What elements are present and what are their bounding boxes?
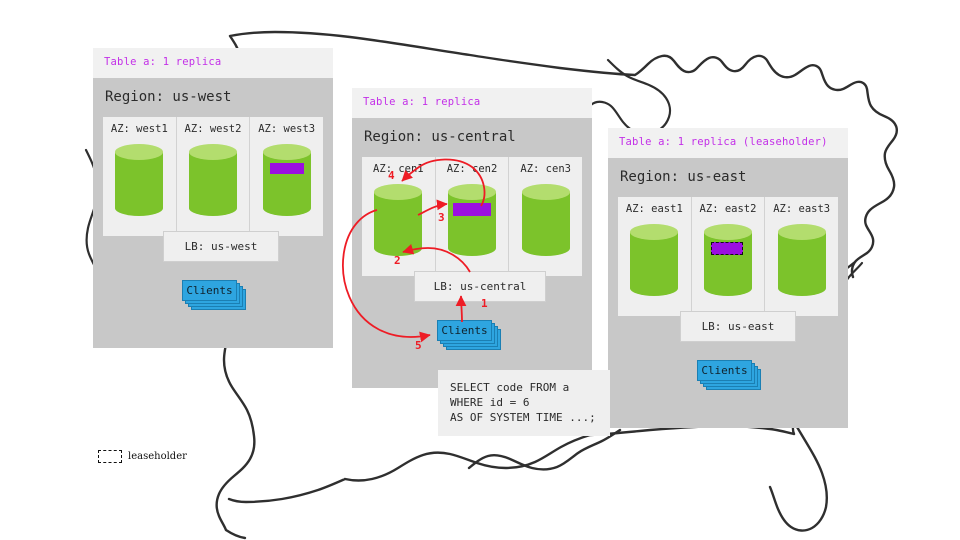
cylinder-body <box>704 232 752 288</box>
leaseholder-dashed-rect-icon <box>98 450 122 463</box>
az-cell-east2[interactable]: AZ: east2 <box>692 197 766 316</box>
az-row-us-east: AZ: east1 AZ: east2 <box>618 197 838 316</box>
cylinder-east1[interactable] <box>630 224 678 296</box>
region-panel-us-west: Table a: 1 replica Region: us-west AZ: w… <box>93 48 333 348</box>
cylinder-body <box>448 192 496 248</box>
cylinder-west3[interactable] <box>263 144 311 216</box>
clients-stack-us-east[interactable]: Clients <box>697 360 759 388</box>
cylinder-body <box>115 152 163 208</box>
az-label-west3: AZ: west3 <box>258 124 315 135</box>
region-panel-us-central: Table a: 1 replica Region: us-central AZ… <box>352 88 592 388</box>
sql-query-box: SELECT code FROM a WHERE id = 6 AS OF SY… <box>438 370 610 436</box>
cylinder-body <box>189 152 237 208</box>
az-label-east2: AZ: east2 <box>700 204 757 215</box>
clients-label-us-east[interactable]: Clients <box>697 360 752 381</box>
cylinder-top <box>115 144 163 160</box>
cylinder-east3[interactable] <box>778 224 826 296</box>
clients-label-us-central[interactable]: Clients <box>437 320 492 341</box>
region-title-us-east: Region: us-east <box>618 158 838 197</box>
cylinder-east2[interactable] <box>704 224 752 296</box>
cylinder-top <box>263 144 311 160</box>
cylinder-top <box>778 224 826 240</box>
az-cell-west1[interactable]: AZ: west1 <box>103 117 177 236</box>
replica-box-cen2[interactable] <box>453 203 491 216</box>
az-label-east1: AZ: east1 <box>626 204 683 215</box>
flow-number-2: 2 <box>394 255 401 266</box>
cylinder-cen2[interactable] <box>448 184 496 256</box>
load-balancer-us-west[interactable]: LB: us-west <box>163 231 279 262</box>
replica-box-west3[interactable] <box>270 163 304 174</box>
cylinder-body <box>778 232 826 288</box>
cylinder-top <box>630 224 678 240</box>
cylinder-top <box>704 224 752 240</box>
cylinder-top <box>189 144 237 160</box>
clients-stack-us-west[interactable]: Clients <box>182 280 244 308</box>
region-title-us-central: Region: us-central <box>362 118 582 157</box>
diagram-canvas: Table a: 1 replica Region: us-west AZ: w… <box>0 0 960 540</box>
region-header-label-us-east: Table a: 1 replica (leaseholder) <box>608 128 848 158</box>
az-label-west1: AZ: west1 <box>111 124 168 135</box>
az-cell-east3[interactable]: AZ: east3 <box>765 197 838 316</box>
az-cell-west3[interactable]: AZ: west3 <box>250 117 323 236</box>
load-balancer-us-east[interactable]: LB: us-east <box>680 311 796 342</box>
load-balancer-us-central[interactable]: LB: us-central <box>414 271 546 302</box>
az-label-cen1: AZ: cen1 <box>373 164 424 175</box>
region-title-us-west: Region: us-west <box>103 78 323 117</box>
flow-number-4: 4 <box>388 170 395 181</box>
region-header-label-us-west: Table a: 1 replica <box>93 48 333 78</box>
az-cell-west2[interactable]: AZ: west2 <box>177 117 251 236</box>
flow-number-1: 1 <box>481 298 488 309</box>
az-label-west2: AZ: west2 <box>185 124 242 135</box>
cylinder-body <box>522 192 570 248</box>
cylinder-top <box>374 184 422 200</box>
cylinder-body <box>630 232 678 288</box>
cylinder-body <box>263 152 311 208</box>
cylinder-top <box>448 184 496 200</box>
legend-label: leaseholder <box>128 452 187 462</box>
cylinder-west1[interactable] <box>115 144 163 216</box>
clients-label-us-west[interactable]: Clients <box>182 280 237 301</box>
flow-number-5: 5 <box>415 340 422 351</box>
region-panel-us-east: Table a: 1 replica (leaseholder) Region:… <box>608 128 848 428</box>
az-label-east3: AZ: east3 <box>773 204 830 215</box>
az-label-cen3: AZ: cen3 <box>520 164 571 175</box>
cylinder-cen1[interactable] <box>374 184 422 256</box>
legend: leaseholder <box>98 450 187 463</box>
cylinder-cen3[interactable] <box>522 184 570 256</box>
az-cell-east1[interactable]: AZ: east1 <box>618 197 692 316</box>
az-cell-cen3[interactable]: AZ: cen3 <box>509 157 582 276</box>
replica-box-east2-leaseholder[interactable] <box>711 242 743 255</box>
az-label-cen2: AZ: cen2 <box>447 164 498 175</box>
cylinder-body <box>374 192 422 248</box>
cylinder-top <box>522 184 570 200</box>
region-header-label-us-central: Table a: 1 replica <box>352 88 592 118</box>
cylinder-west2[interactable] <box>189 144 237 216</box>
az-row-us-west: AZ: west1 AZ: west2 AZ <box>103 117 323 236</box>
flow-number-3: 3 <box>438 212 445 223</box>
clients-stack-us-central[interactable]: Clients <box>437 320 499 348</box>
az-cell-cen2[interactable]: AZ: cen2 <box>436 157 510 276</box>
